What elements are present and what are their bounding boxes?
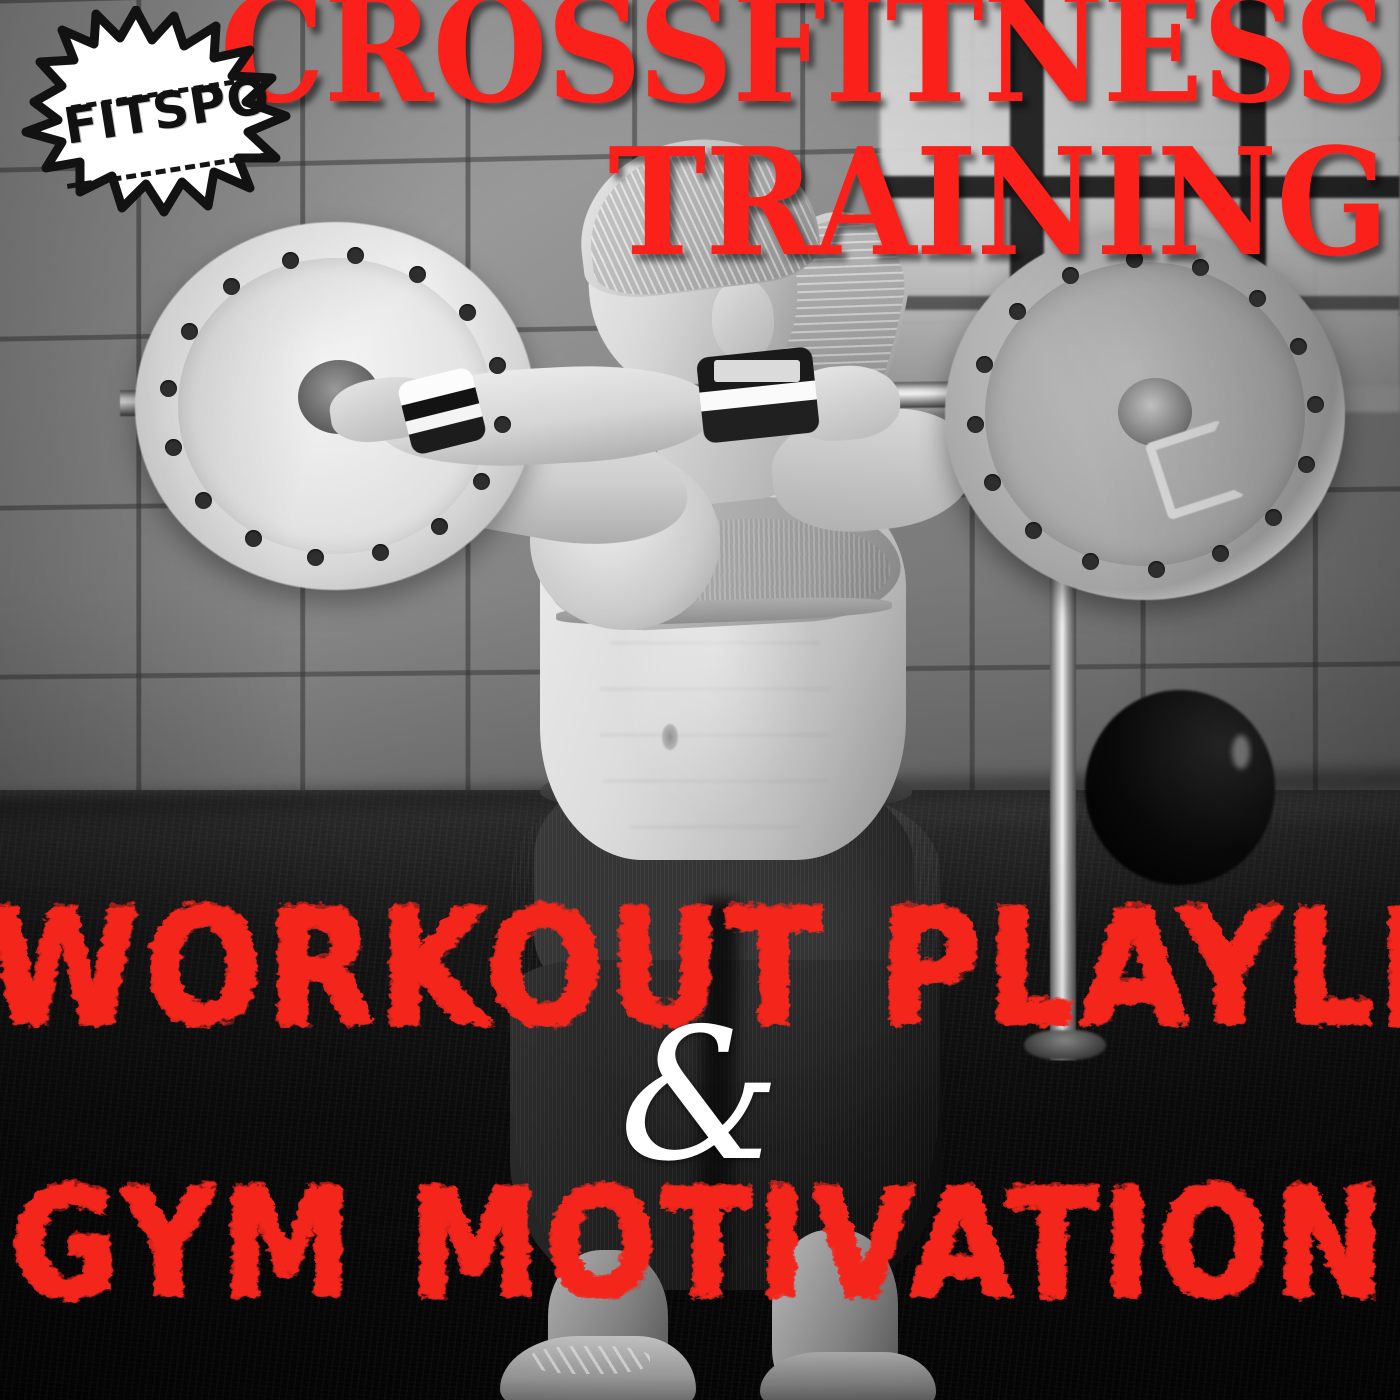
plate-bolt-hole <box>1025 522 1042 539</box>
plate-bolt-hole <box>1148 561 1165 578</box>
plate-bolt-hole <box>967 416 984 433</box>
plate-bolt-hole <box>181 323 198 340</box>
plate-bolt-hole <box>473 473 490 490</box>
athlete-shoe-right <box>760 1352 936 1400</box>
plate-bolt-hole <box>1290 338 1307 355</box>
plate-bolt-hole <box>1082 553 1099 570</box>
plate-bolt-hole <box>245 530 262 547</box>
plate-bolt-hole <box>165 439 182 456</box>
plate-bolt-hole <box>1307 396 1324 413</box>
plate-bolt-hole <box>489 357 506 374</box>
wrist-wrap-logo <box>714 360 800 382</box>
athlete-ear <box>712 278 774 360</box>
plate-bolt-hole <box>1265 509 1282 526</box>
subtitle-line-2-text: GYM MOTIVATION <box>10 1157 1389 1333</box>
subtitle-line-2: GYM MOTIVATION <box>0 1157 1400 1333</box>
plate-bolt-hole <box>195 492 212 509</box>
album-cover: CROSSFITNESS TRAINING FITSPO WORKOUT PLA… <box>0 0 1400 1400</box>
fitspo-badge: FITSPO <box>18 6 302 218</box>
plate-bolt-hole <box>976 356 993 373</box>
plate-bolt-hole <box>307 549 324 566</box>
medicine-ball <box>1085 690 1275 885</box>
plate-bolt-hole <box>1298 456 1315 473</box>
athlete-navel <box>662 724 678 750</box>
plate-bolt-hole <box>1212 545 1229 562</box>
medicine-ball-highlight <box>1232 735 1250 769</box>
plate-bolt-hole <box>494 416 511 433</box>
shoe-laces <box>530 1346 650 1374</box>
plate-bolt-hole <box>431 518 448 535</box>
plate-bolt-hole <box>160 380 177 397</box>
athlete-abs <box>600 596 830 848</box>
